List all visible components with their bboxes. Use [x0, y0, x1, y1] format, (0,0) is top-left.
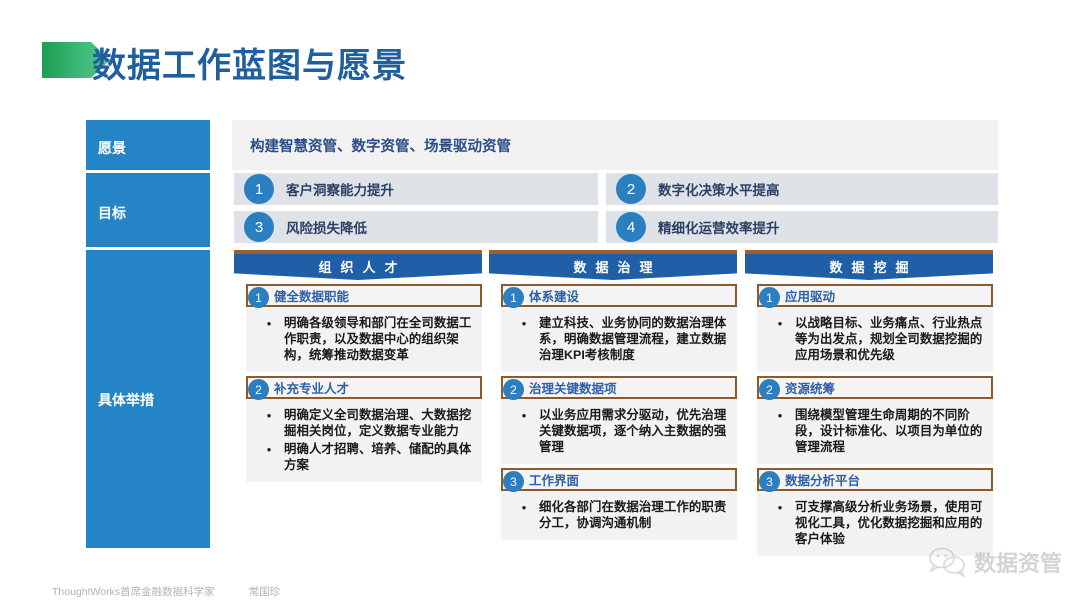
vision-row: 构建智慧资管、数字资管、场景驱动资管: [232, 120, 998, 170]
measure-block: 2资源统筹•围绕模型管理生命周期的不同阶段，设计标准化、以项目为单位的管理流程: [745, 376, 993, 464]
measure-block: 3工作界面•细化各部门在数据治理工作的职责分工，协调沟通机制: [489, 468, 737, 540]
bullet-icon: •: [509, 407, 539, 424]
bullet-icon: •: [254, 407, 284, 424]
measure-label: 补充专业人才: [274, 378, 349, 397]
bullet-text: 以战略目标、业务痛点、行业热点等为出发点，规划全司数据挖掘的应用场景和优先级: [795, 315, 983, 363]
measure-body: •以战略目标、业务痛点、行业热点等为出发点，规划全司数据挖掘的应用场景和优先级: [757, 307, 993, 372]
measure-number-badge: 1: [759, 287, 780, 308]
list-item: •细化各部门在数据治理工作的职责分工，协调沟通机制: [509, 499, 727, 531]
measure-body: •细化各部门在数据治理工作的职责分工，协调沟通机制: [501, 491, 737, 540]
wechat-icon: [928, 546, 968, 578]
sidebar-item-label: 具体举措: [98, 390, 154, 410]
bullet-icon: •: [765, 315, 795, 332]
goal-label: 风险损失降低: [286, 211, 367, 243]
sidebar-item-goal: 目标: [86, 173, 210, 247]
list-item: •明确人才招聘、培养、储配的具体方案: [254, 441, 472, 473]
measure-header: 1体系建设: [501, 284, 737, 307]
pillar-banner-label: 数据治理: [564, 257, 661, 276]
measure-header: 1健全数据职能: [246, 284, 482, 307]
measure-header: 2治理关键数据项: [501, 376, 737, 399]
bullet-text: 明确定义全司数据治理、大数据挖掘相关岗位，定义数据专业能力: [284, 407, 472, 439]
pillar-banner-label: 组织人才: [309, 257, 406, 276]
watermark-text: 数据资管: [974, 546, 1062, 578]
bullet-icon: •: [254, 441, 284, 458]
bullet-text: 以业务应用需求分驱动，优先治理关键数据项，逐个纳入主数据的强管理: [539, 407, 727, 455]
list-item: •可支撑高级分析业务场景，使用可视化工具，优化数据挖掘和应用的客户体验: [765, 499, 983, 547]
bullet-icon: •: [765, 499, 795, 516]
goal-item-3: 3 风险损失降低: [234, 211, 598, 243]
measure-number-badge: 1: [248, 287, 269, 308]
goal-label: 数字化决策水平提高: [658, 173, 780, 205]
bullet-text: 围绕模型管理生命周期的不同阶段，设计标准化、以项目为单位的管理流程: [795, 407, 983, 455]
footer-affiliation: ThoughtWorks首席金融数据科学家: [52, 586, 215, 598]
measure-label: 工作界面: [529, 470, 579, 489]
pillar-banner-label: 数据挖掘: [820, 257, 917, 276]
measure-block: 1体系建设•建立科技、业务协同的数据治理体系，明确数据管理流程，建立数据治理KP…: [489, 284, 737, 372]
measure-block: 2补充专业人才•明确定义全司数据治理、大数据挖掘相关岗位，定义数据专业能力•明确…: [234, 376, 482, 482]
pillar-banner: 数据挖掘: [745, 250, 993, 280]
bullet-icon: •: [509, 315, 539, 332]
page-title: 数据工作蓝图与愿景: [92, 38, 407, 87]
bullet-text: 明确人才招聘、培养、储配的具体方案: [284, 441, 472, 473]
pillar-column-organization: 组织人才1健全数据职能•明确各级领导和部门在全司数据工作职责，以及数据中心的组织…: [234, 250, 482, 482]
sidebar-item-label: 愿景: [98, 138, 126, 158]
bullet-text: 细化各部门在数据治理工作的职责分工，协调沟通机制: [539, 499, 727, 531]
measure-header: 3数据分析平台: [757, 468, 993, 491]
goal-number-badge: 4: [616, 212, 646, 242]
list-item: •明确各级领导和部门在全司数据工作职责，以及数据中心的组织架构，统筹推动数据变革: [254, 315, 472, 363]
goal-item-4: 4 精细化运营效率提升: [606, 211, 998, 243]
sidebar-item-measures: 具体举措: [86, 250, 210, 548]
sidebar-item-label: 目标: [98, 203, 126, 223]
list-item: •以业务应用需求分驱动，优先治理关键数据项，逐个纳入主数据的强管理: [509, 407, 727, 455]
sidebar-item-vision: 愿景: [86, 120, 210, 170]
goal-item-1: 1 客户洞察能力提升: [234, 173, 598, 205]
pillar-column-governance: 数据治理1体系建设•建立科技、业务协同的数据治理体系，明确数据管理流程，建立数据…: [489, 250, 737, 540]
measure-label: 应用驱动: [785, 286, 835, 305]
measure-number-badge: 3: [759, 471, 780, 492]
measure-number-badge: 2: [503, 379, 524, 400]
bullet-text: 明确各级领导和部门在全司数据工作职责，以及数据中心的组织架构，统筹推动数据变革: [284, 315, 472, 363]
measure-body: •围绕模型管理生命周期的不同阶段，设计标准化、以项目为单位的管理流程: [757, 399, 993, 464]
measure-block: 2治理关键数据项•以业务应用需求分驱动，优先治理关键数据项，逐个纳入主数据的强管…: [489, 376, 737, 464]
list-item: •建立科技、业务协同的数据治理体系，明确数据管理流程，建立数据治理KPI考核制度: [509, 315, 727, 363]
list-item: •围绕模型管理生命周期的不同阶段，设计标准化、以项目为单位的管理流程: [765, 407, 983, 455]
measure-body: •建立科技、业务协同的数据治理体系，明确数据管理流程，建立数据治理KPI考核制度: [501, 307, 737, 372]
measure-label: 治理关键数据项: [529, 378, 617, 397]
measure-header: 2补充专业人才: [246, 376, 482, 399]
measure-body: •明确各级领导和部门在全司数据工作职责，以及数据中心的组织架构，统筹推动数据变革: [246, 307, 482, 372]
measure-block: 1健全数据职能•明确各级领导和部门在全司数据工作职责，以及数据中心的组织架构，统…: [234, 284, 482, 372]
list-item: •明确定义全司数据治理、大数据挖掘相关岗位，定义数据专业能力: [254, 407, 472, 439]
bullet-icon: •: [765, 407, 795, 424]
pillar-column-mining: 数据挖掘1应用驱动•以战略目标、业务痛点、行业热点等为出发点，规划全司数据挖掘的…: [745, 250, 993, 556]
vision-text: 构建智慧资管、数字资管、场景驱动资管: [250, 135, 511, 156]
slide-canvas: 数据工作蓝图与愿景 愿景 目标 具体举措 构建智慧资管、数字资管、场景驱动资管 …: [0, 0, 1080, 608]
measure-label: 体系建设: [529, 286, 579, 305]
list-item: •以战略目标、业务痛点、行业热点等为出发点，规划全司数据挖掘的应用场景和优先级: [765, 315, 983, 363]
measure-header: 2资源统筹: [757, 376, 993, 399]
measure-block: 1应用驱动•以战略目标、业务痛点、行业热点等为出发点，规划全司数据挖掘的应用场景…: [745, 284, 993, 372]
measure-block: 3数据分析平台•可支撑高级分析业务场景，使用可视化工具，优化数据挖掘和应用的客户…: [745, 468, 993, 556]
bullet-icon: •: [254, 315, 284, 332]
bullet-icon: •: [509, 499, 539, 516]
measure-body: •以业务应用需求分驱动，优先治理关键数据项，逐个纳入主数据的强管理: [501, 399, 737, 464]
measure-label: 资源统筹: [785, 378, 835, 397]
goal-label: 精细化运营效率提升: [658, 211, 780, 243]
goal-number-badge: 2: [616, 174, 646, 204]
footer-credit: ThoughtWorks首席金融数据科学家常国珍: [52, 584, 280, 599]
measure-number-badge: 1: [503, 287, 524, 308]
measure-number-badge: 2: [759, 379, 780, 400]
measure-label: 数据分析平台: [785, 470, 860, 489]
measure-number-badge: 2: [248, 379, 269, 400]
goal-number-badge: 3: [244, 212, 274, 242]
measure-header: 3工作界面: [501, 468, 737, 491]
bullet-text: 可支撑高级分析业务场景，使用可视化工具，优化数据挖掘和应用的客户体验: [795, 499, 983, 547]
goal-number-badge: 1: [244, 174, 274, 204]
measure-number-badge: 3: [503, 471, 524, 492]
pillar-banner: 数据治理: [489, 250, 737, 280]
measure-body: •明确定义全司数据治理、大数据挖掘相关岗位，定义数据专业能力•明确人才招聘、培养…: [246, 399, 482, 482]
watermark: 数据资管: [928, 546, 1062, 578]
goal-label: 客户洞察能力提升: [286, 173, 394, 205]
goal-item-2: 2 数字化决策水平提高: [606, 173, 998, 205]
bullet-text: 建立科技、业务协同的数据治理体系，明确数据管理流程，建立数据治理KPI考核制度: [539, 315, 727, 363]
pillar-banner: 组织人才: [234, 250, 482, 280]
measure-header: 1应用驱动: [757, 284, 993, 307]
measure-label: 健全数据职能: [274, 286, 349, 305]
footer-author: 常国珍: [249, 586, 281, 598]
